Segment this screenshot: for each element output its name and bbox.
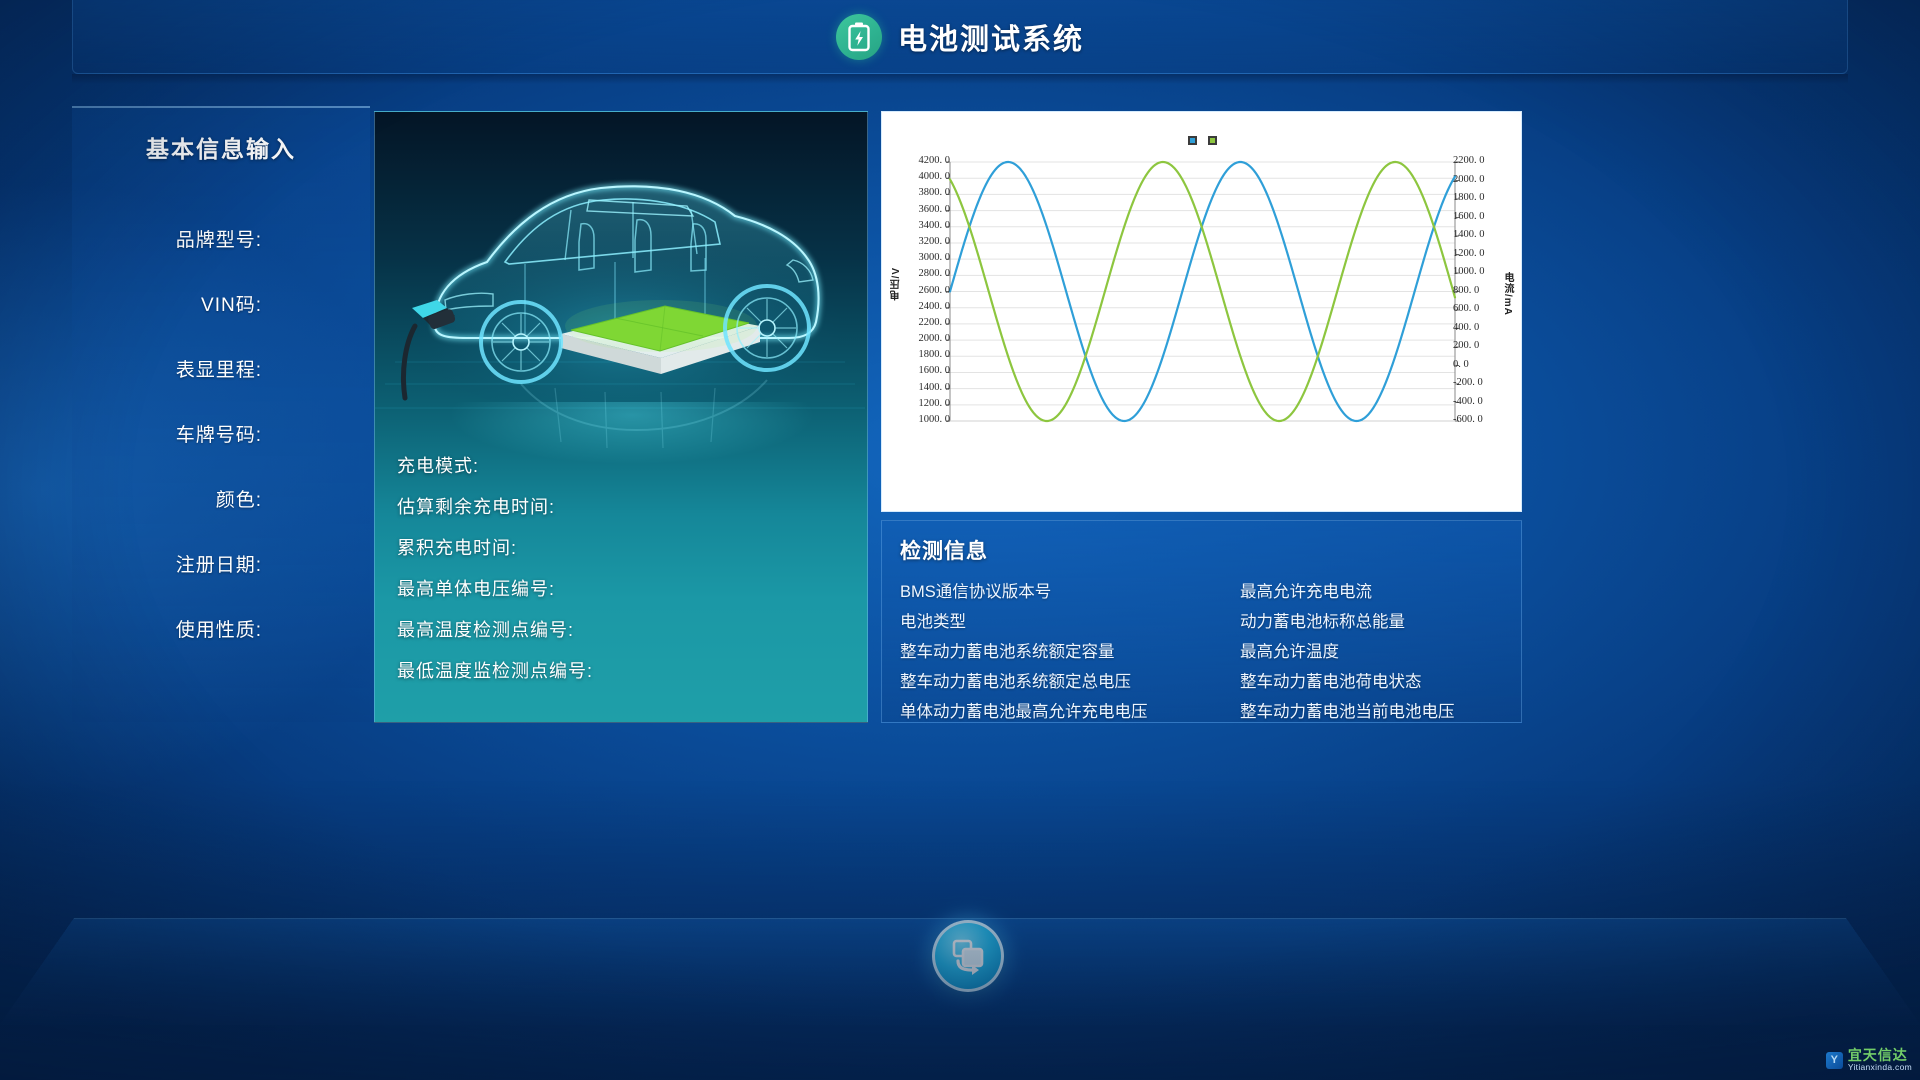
chart-y-axis-left-title: 电压/V xyxy=(889,267,904,300)
info-item-max-allowed-charge-current[interactable]: 最高允许充电电流 xyxy=(1240,577,1503,607)
field-row-max-temperature-probe-number[interactable]: 最高温度检测点编号: xyxy=(397,608,867,649)
y-tick-label-left: 1000. 0 xyxy=(919,415,951,426)
field-label: 车牌号码: xyxy=(176,420,262,447)
y-tick-label-left: 1800. 0 xyxy=(919,350,951,361)
y-tick-label-left: 3200. 0 xyxy=(919,237,951,248)
y-tick-label-left: 3000. 0 xyxy=(919,253,951,264)
field-label: 颜色: xyxy=(216,485,262,512)
watermark: Y 宜天信达 Yitianxinda.com xyxy=(1826,1048,1912,1072)
field-label: VIN码: xyxy=(201,290,262,317)
y-tick-label-right: 400. 0 xyxy=(1453,323,1479,334)
field-row-registration-date[interactable]: 注册日期: xyxy=(72,531,370,596)
field-row-min-temperature-probe-number[interactable]: 最低温度监检测点编号: xyxy=(397,649,867,690)
watermark-logo-icon: Y xyxy=(1826,1052,1843,1069)
field-row-color[interactable]: 颜色: xyxy=(72,466,370,531)
y-tick-label-right: -200. 0 xyxy=(1453,378,1483,389)
field-label: 累积充电时间: xyxy=(397,534,517,560)
y-tick-label-right: 1600. 0 xyxy=(1453,212,1485,223)
header-shadow xyxy=(72,74,1848,84)
info-item-current-battery-voltage[interactable]: 整车动力蓄电池当前电池电压 xyxy=(1240,697,1503,727)
y-tick-label-right: 1400. 0 xyxy=(1453,230,1485,241)
field-row-charging-mode[interactable]: 充电模式: xyxy=(397,444,867,485)
y-tick-label-left: 3800. 0 xyxy=(919,188,951,199)
y-tick-label-right: 600. 0 xyxy=(1453,304,1479,315)
y-tick-label-right: 1800. 0 xyxy=(1453,193,1485,204)
field-label: 最高单体电压编号: xyxy=(397,575,555,601)
y-tick-label-right: -600. 0 xyxy=(1453,415,1483,426)
y-tick-label-left: 2200. 0 xyxy=(919,318,951,329)
info-item-bms-protocol-version[interactable]: BMS通信协议版本号 xyxy=(900,577,1240,607)
y-tick-label-right: 0. 0 xyxy=(1453,360,1469,371)
basic-info-panel: 基本信息输入 品牌型号: VIN码: 表显里程: 车牌号码: 颜色: 注册日期:… xyxy=(72,106,370,722)
detection-info-title: 检测信息 xyxy=(900,535,1503,565)
y-tick-label-left: 2000. 0 xyxy=(919,334,951,345)
field-row-vin[interactable]: VIN码: xyxy=(72,271,370,336)
page-title: 电池测试系统 xyxy=(898,16,1084,58)
y-tick-label-left: 2400. 0 xyxy=(919,302,951,313)
y-tick-label-right: 200. 0 xyxy=(1453,341,1479,352)
field-row-max-cell-voltage-number[interactable]: 最高单体电压编号: xyxy=(397,567,867,608)
chart-legend xyxy=(882,136,1523,145)
switch-screen-icon xyxy=(948,936,988,976)
watermark-en: Yitianxinda.com xyxy=(1848,1063,1912,1072)
field-row-plate-number[interactable]: 车牌号码: xyxy=(72,401,370,466)
battery-icon xyxy=(836,14,882,60)
field-row-usage-nature[interactable]: 使用性质: xyxy=(72,596,370,661)
y-tick-label-right: 1200. 0 xyxy=(1453,249,1485,260)
info-item-state-of-charge[interactable]: 整车动力蓄电池荷电状态 xyxy=(1240,667,1503,697)
info-item-battery-type[interactable]: 电池类型 xyxy=(900,607,1240,637)
y-tick-label-right: 800. 0 xyxy=(1453,286,1479,297)
y-tick-label-left: 1400. 0 xyxy=(919,383,951,394)
field-label: 品牌型号: xyxy=(176,225,262,252)
y-tick-label-right: 2000. 0 xyxy=(1453,175,1485,186)
legend-swatch-current[interactable] xyxy=(1208,136,1217,145)
info-item-cell-max-allowed-charge-voltage[interactable]: 单体动力蓄电池最高允许充电电压 xyxy=(900,697,1240,727)
y-tick-label-left: 4000. 0 xyxy=(919,172,951,183)
info-item-rated-capacity[interactable]: 整车动力蓄电池系统额定容量 xyxy=(900,637,1240,667)
voltage-current-chart: 1000. 01200. 01400. 01600. 01800. 02000.… xyxy=(881,111,1522,512)
field-label: 表显里程: xyxy=(176,355,262,382)
basic-info-title: 基本信息输入 xyxy=(72,130,370,164)
y-tick-label-left: 2800. 0 xyxy=(919,269,951,280)
chart-y-axis-right-ticks: -600. 0-400. 0-200. 00. 0200. 0400. 0600… xyxy=(1453,112,1503,513)
charging-field-list: 充电模式: 估算剩余充电时间: 累积充电时间: 最高单体电压编号: 最高温度检测… xyxy=(397,444,867,690)
vehicle-charging-panel: 充电模式: 估算剩余充电时间: 累积充电时间: 最高单体电压编号: 最高温度检测… xyxy=(374,111,868,723)
field-label: 使用性质: xyxy=(176,615,262,642)
y-tick-label-right: 1000. 0 xyxy=(1453,267,1485,278)
detection-info-panel: 检测信息 BMS通信协议版本号 最高允许充电电流 电池类型 动力蓄电池标称总能量… xyxy=(881,520,1522,723)
field-label: 充电模式: xyxy=(397,452,479,478)
header-title-group: 电池测试系统 xyxy=(836,14,1084,60)
field-row-estimated-remaining-charge-time[interactable]: 估算剩余充电时间: xyxy=(397,485,867,526)
y-tick-label-left: 1200. 0 xyxy=(919,399,951,410)
info-item-nominal-total-energy[interactable]: 动力蓄电池标称总能量 xyxy=(1240,607,1503,637)
watermark-text: 宜天信达 Yitianxinda.com xyxy=(1848,1048,1912,1072)
y-tick-label-left: 3400. 0 xyxy=(919,221,951,232)
chart-y-axis-right-title: 电流/mA xyxy=(1500,272,1515,316)
app-header: 电池测试系统 xyxy=(72,0,1848,74)
detection-info-grid: BMS通信协议版本号 最高允许充电电流 电池类型 动力蓄电池标称总能量 整车动力… xyxy=(900,577,1503,727)
y-tick-label-left: 3600. 0 xyxy=(919,205,951,216)
y-tick-label-left: 2600. 0 xyxy=(919,286,951,297)
watermark-cn: 宜天信达 xyxy=(1848,1048,1912,1063)
chart-y-axis-left-ticks: 1000. 01200. 01400. 01600. 01800. 02000.… xyxy=(902,112,950,513)
y-tick-label-right: 2200. 0 xyxy=(1453,156,1485,167)
field-row-cumulative-charge-time[interactable]: 累积充电时间: xyxy=(397,526,867,567)
field-label: 最高温度检测点编号: xyxy=(397,616,574,642)
info-item-rated-total-voltage[interactable]: 整车动力蓄电池系统额定总电压 xyxy=(900,667,1240,697)
legend-swatch-voltage[interactable] xyxy=(1188,136,1197,145)
field-label: 最低温度监检测点编号: xyxy=(397,657,593,683)
info-item-max-allowed-temperature[interactable]: 最高允许温度 xyxy=(1240,637,1503,667)
basic-info-field-list: 品牌型号: VIN码: 表显里程: 车牌号码: 颜色: 注册日期: 使用性质: xyxy=(72,206,370,661)
chart-plot-area xyxy=(882,112,1523,513)
field-label: 注册日期: xyxy=(176,550,262,577)
y-tick-label-left: 1600. 0 xyxy=(919,366,951,377)
switch-screen-button[interactable] xyxy=(932,920,1004,992)
y-tick-label-right: -400. 0 xyxy=(1453,397,1483,408)
y-tick-label-left: 4200. 0 xyxy=(919,156,951,167)
field-row-mileage[interactable]: 表显里程: xyxy=(72,336,370,401)
field-label: 估算剩余充电时间: xyxy=(397,493,555,519)
field-row-brand-model[interactable]: 品牌型号: xyxy=(72,206,370,271)
